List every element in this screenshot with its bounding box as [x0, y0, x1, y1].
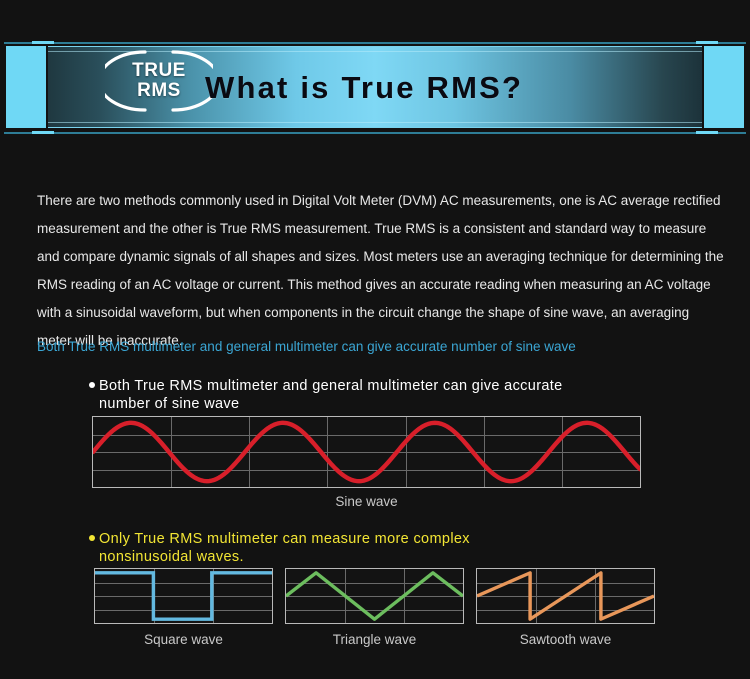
banner-tick-bottom-right	[696, 131, 718, 134]
triangle-wave-path	[286, 569, 463, 623]
caption-sine-wave: Sine wave	[92, 494, 641, 509]
caption-square-wave: Square wave	[94, 632, 273, 647]
square-wave-path	[95, 569, 272, 623]
badge-line-rms: RMS	[137, 81, 181, 101]
banner-bottom-rule	[4, 132, 746, 134]
sine-wave-path	[93, 417, 640, 487]
banner-inner-rule-bottom	[48, 122, 702, 123]
banner-accent-block-right	[704, 46, 744, 128]
chart-triangle-wave	[285, 568, 464, 624]
chart-square-wave	[94, 568, 273, 624]
banner-tick-top-right	[696, 41, 718, 44]
intro-paragraph: There are two methods commonly used in D…	[37, 187, 727, 355]
true-rms-badge-text: TRUE RMS	[105, 48, 213, 114]
caption-triangle-wave: Triangle wave	[285, 632, 464, 647]
bullet-item-sine: Both True RMS multimeter and general mul…	[89, 377, 689, 413]
banner-tick-bottom-left	[32, 131, 54, 134]
caption-sawtooth-wave: Sawtooth wave	[476, 632, 655, 647]
bullet-dot-icon	[89, 382, 95, 388]
bullet-label: Both True RMS multimeter and general mul…	[99, 377, 689, 413]
page-title: What is True RMS?	[205, 70, 523, 106]
highlight-subline: Both True RMS multimeter and general mul…	[37, 337, 576, 357]
sawtooth-wave-path	[477, 569, 654, 623]
chart-sine-wave	[92, 416, 641, 488]
banner-top-rule	[4, 42, 746, 44]
bullet-label: Only True RMS multimeter can measure mor…	[99, 530, 689, 566]
banner-accent-block-left	[6, 46, 46, 128]
bullet-dot-icon	[89, 535, 95, 541]
chart-sawtooth-wave	[476, 568, 655, 624]
bullet-item-nonsinusoidal: Only True RMS multimeter can measure mor…	[89, 530, 689, 566]
banner-tick-top-left	[32, 41, 54, 44]
badge-line-true: TRUE	[132, 61, 186, 81]
true-rms-badge: TRUE RMS	[105, 48, 213, 114]
header-banner: TRUE RMS What is True RMS?	[0, 40, 750, 135]
